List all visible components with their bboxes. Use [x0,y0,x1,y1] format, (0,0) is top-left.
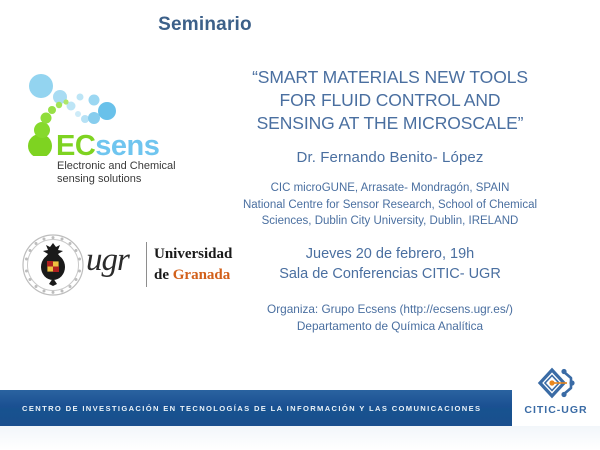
page-title: Seminario [0,14,600,36]
citic-banner: CENTRO DE INVESTIGACIÓN EN TECNOLOGÍAS D… [0,390,512,426]
ecsens-word-sens: sens [95,130,159,162]
ugr-script-wordmark: ugr [86,244,129,277]
ecsens-wordmark: ECsens [56,132,159,161]
bottom-gradient-wash [0,426,600,450]
talk-title: “SMART MATERIALS NEW TOOLS FOR FLUID CON… [190,66,590,135]
talk-title-line-2: FOR FLUID CONTROL AND [190,89,590,112]
citic-diamond-network-icon [534,366,576,402]
organizer-line-1: Organiza: Grupo Ecsens (http://ecsens.ug… [190,301,590,318]
ugr-logo-divider [146,242,147,287]
talk-title-line-3: SENSING AT THE MICROSCALE” [190,112,590,135]
citic-logo: CITIC-UGR [516,366,596,424]
organizer-info: Organiza: Grupo Ecsens (http://ecsens.ug… [190,301,590,335]
speaker-name: Dr. Fernando Benito- López [190,149,590,166]
citic-banner-text: CENTRO DE INVESTIGACIÓN EN TECNOLOGÍAS D… [0,404,481,413]
event-venue-line: Sala de Conferencias CITIC- UGR [190,265,590,285]
ecsens-tagline: Electronic and Chemical sensing solution… [57,160,176,186]
affiliation-line-1: CIC microGUNE, Arrasate- Mondragón, SPAI… [190,180,590,196]
affiliation-line-2: National Centre for Sensor Research, Sch… [190,197,590,213]
seminar-content: “SMART MATERIALS NEW TOOLS FOR FLUID CON… [190,66,590,336]
organizer-line-2: Departamento de Química Analítica [190,318,590,335]
ecsens-word-ec: EC [56,130,95,162]
seminar-poster-slide: Seminario ECsens Electronic and Chemical… [0,0,600,450]
ugr-seal-icon [22,234,84,296]
speaker-affiliation: CIC microGUNE, Arrasate- Mondragón, SPAI… [190,180,590,229]
event-datetime-venue: Jueves 20 de febrero, 19h Sala de Confer… [190,245,590,284]
event-date-line: Jueves 20 de febrero, 19h [190,245,590,265]
ecsens-logo: ECsens Electronic and Chemical sensing s… [18,70,190,188]
citic-wordmark: CITIC-UGR [516,404,596,416]
talk-title-line-1: “SMART MATERIALS NEW TOOLS [190,66,590,89]
ecsens-tagline-line-2: sensing solutions [57,173,176,186]
ugr-de-label: de [154,267,173,283]
affiliation-line-3: Sciences, Dublin City University, Dublin… [190,213,590,229]
ecsens-tagline-line-1: Electronic and Chemical [57,160,176,173]
